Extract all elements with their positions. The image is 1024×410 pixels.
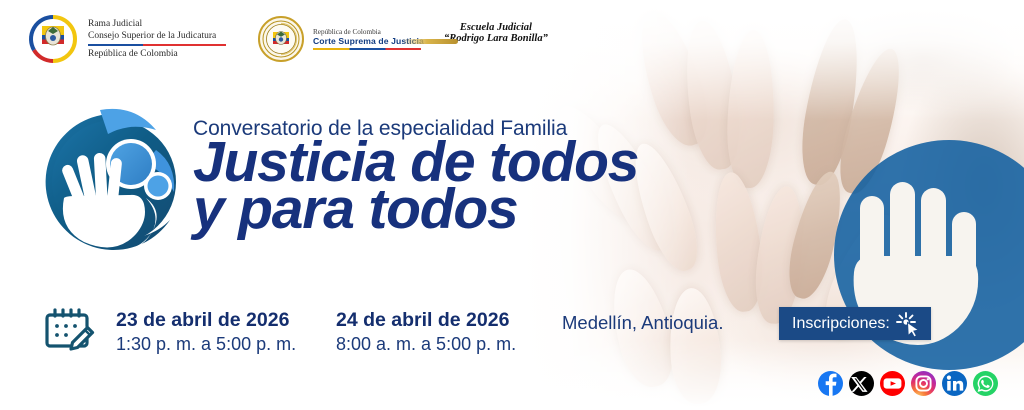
- corte-line-1: República de Colombia: [313, 28, 424, 36]
- social-links: [818, 371, 998, 396]
- whatsapp-icon[interactable]: [973, 371, 998, 396]
- rama-line-1: Rama Judicial: [88, 19, 226, 31]
- facebook-icon[interactable]: [818, 371, 843, 396]
- logo-rama-judicial: Rama Judicial Consejo Superior de la Jud…: [28, 14, 226, 64]
- date-block-1: 23 de abril de 2026 1:30 p. m. a 5:00 p.…: [116, 308, 296, 356]
- linkedin-icon[interactable]: [942, 371, 967, 396]
- rama-judicial-seal-icon: [28, 14, 78, 64]
- corte-divider: [313, 48, 421, 50]
- escuela-line-1: Escuela Judicial: [444, 22, 548, 33]
- escuela-swoosh-icon: [402, 39, 458, 44]
- escuela-judicial-text: Escuela Judicial “Rodrigo Lara Bonilla”: [444, 22, 548, 44]
- youtube-icon[interactable]: [880, 371, 905, 396]
- inscripciones-button[interactable]: Inscripciones:: [779, 307, 931, 340]
- calendar-pencil-icon: [44, 303, 96, 351]
- rama-judicial-text: Rama Judicial Consejo Superior de la Jud…: [88, 19, 226, 59]
- click-cursor-icon: [895, 311, 921, 337]
- instagram-icon[interactable]: [911, 371, 936, 396]
- rama-divider: [88, 44, 226, 46]
- logo-corte-suprema: República de Colombia Corte Suprema de J…: [258, 16, 424, 62]
- justicia-para-todos-logo-icon: [38, 106, 190, 258]
- institutional-logos: Rama Judicial Consejo Superior de la Jud…: [0, 0, 1024, 80]
- event-banner: Rama Judicial Consejo Superior de la Jud…: [0, 0, 1024, 410]
- event-location: Medellín, Antioquia.: [562, 312, 723, 334]
- logo-escuela-judicial: Escuela Judicial “Rodrigo Lara Bonilla”: [444, 22, 548, 44]
- escuela-line-2: “Rodrigo Lara Bonilla”: [444, 33, 548, 44]
- corte-suprema-seal-icon: [258, 16, 304, 62]
- date-2-time: 8:00 a. m. a 5:00 p. m.: [336, 332, 516, 356]
- date-1-time: 1:30 p. m. a 5:00 p. m.: [116, 332, 296, 356]
- page-title: Justicia de todos y para todos: [193, 139, 638, 233]
- rama-line-2: Consejo Superior de la Judicatura: [88, 31, 226, 43]
- inscripciones-label: Inscripciones:: [792, 315, 890, 333]
- x-twitter-icon[interactable]: [849, 371, 874, 396]
- date-1-label: 23 de abril de 2026: [116, 308, 296, 332]
- date-block-2: 24 de abril de 2026 8:00 a. m. a 5:00 p.…: [336, 308, 516, 356]
- date-2-label: 24 de abril de 2026: [336, 308, 516, 332]
- rama-line-3: República de Colombia: [88, 49, 226, 59]
